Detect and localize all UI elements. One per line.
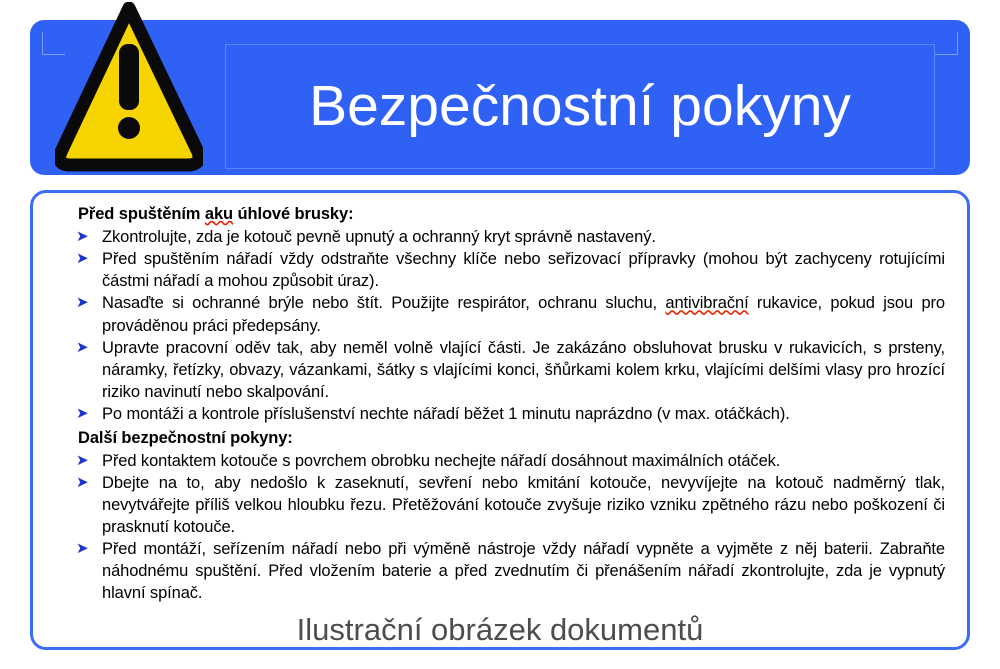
arrow-bullet-icon: ➤ (76, 226, 88, 248)
list-item: ➤ Upravte pracovní oděv tak, aby neměl v… (60, 337, 945, 403)
list-item-text: Dbejte na to, aby nedošlo k zaseknutí, s… (102, 474, 945, 536)
arrow-bullet-icon: ➤ (76, 337, 88, 359)
instructions-panel: Před spuštěním aku úhlové brusky: ➤ Zkon… (30, 190, 970, 650)
arrow-bullet-icon: ➤ (76, 248, 88, 270)
list-item-text: Upravte pracovní oděv tak, aby neměl vol… (102, 339, 945, 401)
rules-list-secondary: ➤ Před kontaktem kotouče s povrchem obro… (60, 450, 945, 604)
section-heading-secondary: Další bezpečnostní pokyny: (78, 428, 945, 449)
list-item-text: Před spuštěním nářadí vždy odstraňte vše… (102, 250, 945, 290)
instructions-content: Před spuštěním aku úhlové brusky: ➤ Zkon… (33, 193, 967, 617)
list-item-text: Zkontrolujte, zda je kotouč pevně upnutý… (102, 228, 656, 246)
section-heading-primary: Před spuštěním aku úhlové brusky: (78, 204, 945, 225)
arrow-bullet-icon: ➤ (76, 472, 88, 494)
banner-title-frame: Bezpečnostní pokyny (225, 44, 935, 169)
arrow-bullet-icon: ➤ (76, 292, 88, 314)
arrow-bullet-icon: ➤ (76, 403, 88, 425)
rules-list-primary: ➤ Zkontrolujte, zda je kotouč pevně upnu… (60, 226, 945, 424)
list-item: ➤ Zkontrolujte, zda je kotouč pevně upnu… (60, 226, 945, 248)
heading-text-before: Před spuštěním (78, 205, 205, 223)
corner-bracket-top-right (935, 32, 958, 55)
arrow-bullet-icon: ➤ (76, 450, 88, 472)
list-item-text-part1: Nasaďte si ochranné brýle nebo štít. Pou… (102, 294, 665, 312)
list-item-text: Před kontaktem kotouče s povrchem obrobk… (102, 452, 780, 470)
list-item: ➤ Před montáží, seřízením nářadí nebo př… (60, 538, 945, 604)
list-item-text: Před montáží, seřízením nářadí nebo při … (102, 540, 945, 602)
list-item: ➤ Dbejte na to, aby nedošlo k zaseknutí,… (60, 472, 945, 538)
heading-misspelled-word: aku (205, 205, 233, 223)
banner-title: Bezpečnostní pokyny (309, 77, 851, 137)
arrow-bullet-icon: ➤ (76, 538, 88, 560)
list-item: ➤ Před spuštěním nářadí vždy odstraňte v… (60, 248, 945, 292)
list-item-misspelled-word: antivibrační (665, 294, 748, 312)
list-item-text: Po montáži a kontrole příslušenství nech… (102, 405, 790, 423)
list-item: ➤ Nasaďte si ochranné brýle nebo štít. P… (60, 292, 945, 336)
warning-triangle-icon (55, 2, 203, 172)
list-item: ➤ Po montáži a kontrole příslušenství ne… (60, 403, 945, 425)
list-item: ➤ Před kontaktem kotouče s povrchem obro… (60, 450, 945, 472)
heading-text-after: úhlové brusky: (233, 205, 353, 223)
image-caption: Ilustrační obrázek dokumentů (0, 612, 1000, 648)
